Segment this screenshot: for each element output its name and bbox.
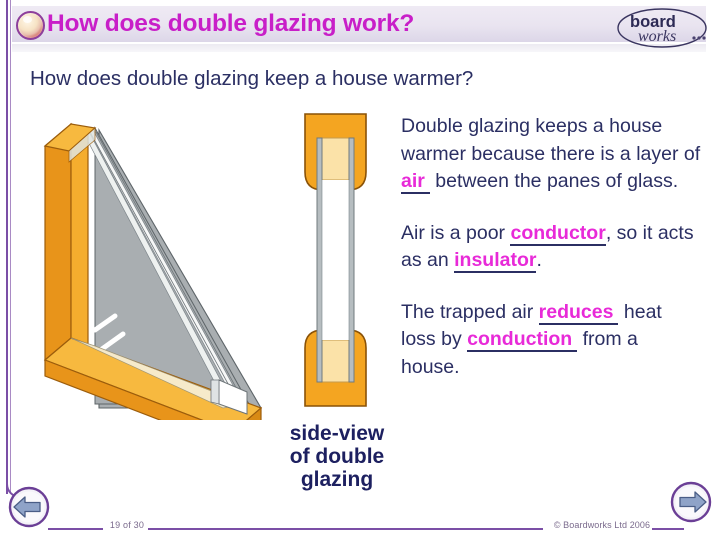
logo-text-works: works [638,28,676,45]
p3-part1: The trapped air [401,301,539,323]
p1-part2: between the panes of glass. [430,170,678,192]
footer-rule-right [652,528,684,530]
page-title: How does double glazing work? [47,8,587,40]
slide-subtitle: How does double glazing keep a house war… [30,66,460,92]
caption-line-2: of double [262,445,412,468]
keyword-insulator: insulator [454,249,536,273]
double-glazing-3d-cutaway [33,108,283,420]
paragraph-1: Double glazing keeps a house warmer beca… [401,113,701,196]
copyright-notice: © Boardworks Ltd 2006 [548,520,656,530]
keyword-conduction: conduction [467,328,577,352]
footer-rule-left [48,528,103,530]
slide-left-border [6,0,8,494]
side-view-caption: side-view of double glazing [262,422,412,491]
title-bar-shadow [12,44,706,52]
keyword-air: air [401,170,430,194]
previous-slide-button[interactable] [6,484,52,530]
slide-canvas: How does double glazing work? board work… [0,0,720,539]
double-glazing-side-view [283,110,388,410]
p2-part1: Air is a poor [401,222,510,244]
page-number: 19 of 30 [103,520,151,530]
keyword-reduces: reduces [539,301,619,325]
globe-badge-icon [16,11,45,40]
slide-left-border-inner [10,0,11,492]
paragraph-2: Air is a poor conductor, so it acts as a… [401,220,701,275]
body-text: Double glazing keeps a house warmer beca… [401,113,701,405]
boardworks-logo: board works [614,4,710,50]
footer-rule-middle [148,528,543,530]
p2-part3: . [536,249,541,271]
p1-part1: Double glazing keeps a house warmer beca… [401,115,700,165]
caption-line-3: glazing [262,468,412,491]
caption-line-1: side-view [262,422,412,445]
paragraph-3: The trapped air reduces heat loss by con… [401,299,701,382]
next-slide-button[interactable] [668,479,714,525]
keyword-conductor: conductor [510,222,605,246]
